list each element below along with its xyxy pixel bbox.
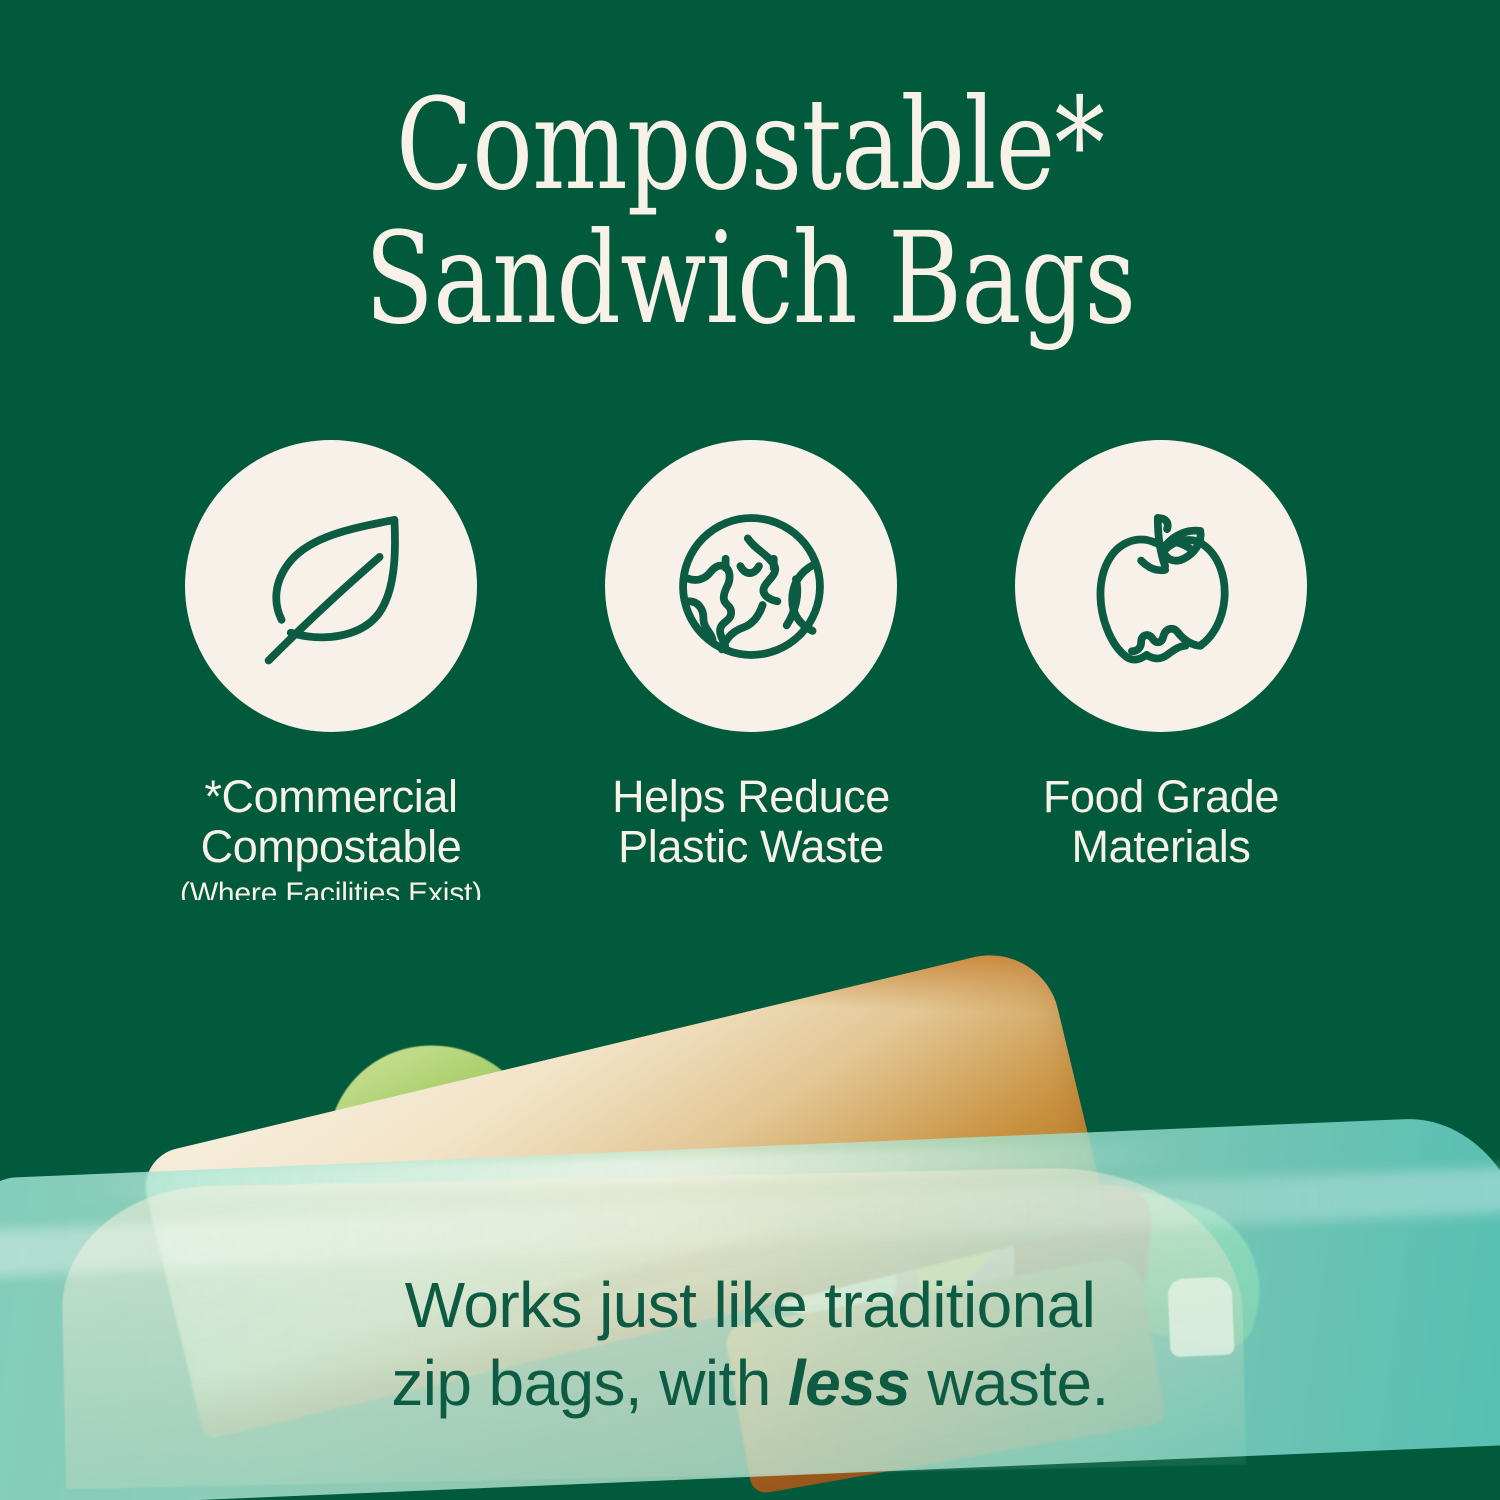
feature-benefits-row: *Commercial Compostable (Where Facilitie… (0, 440, 1500, 911)
headline-line-1: Compostable* (150, 78, 1350, 212)
feature-caption-1-line1: *Commercial (204, 771, 457, 822)
product-feature-graphic: Compostable* Sandwich Bags *Commercial C… (0, 0, 1500, 1500)
feature-caption-1: *Commercial Compostable (Where Facilitie… (180, 772, 482, 911)
feature-caption-1-line2: Compostable (201, 821, 462, 872)
bitten-apple-icon (1069, 494, 1254, 679)
leaf-icon-badge (185, 440, 477, 732)
bitten-apple-icon-badge (1015, 440, 1307, 732)
leaf-icon (239, 494, 424, 679)
feature-caption-2-line2: Plastic Waste (618, 821, 884, 872)
tagline-line-2-post: waste. (910, 1347, 1109, 1419)
tagline-line-2-pre: zip bags, with (391, 1347, 788, 1419)
feature-commercial-compostable: *Commercial Compostable (Where Facilitie… (121, 440, 541, 911)
tagline-line-2: zip bags, with less waste. (0, 1344, 1500, 1422)
smiling-earth-icon-badge (605, 440, 897, 732)
feature-caption-3-line2: Materials (1072, 821, 1251, 872)
page-title: Compostable* Sandwich Bags (150, 78, 1350, 345)
tagline: Works just like traditional zip bags, wi… (0, 1266, 1500, 1422)
tagline-line-1: Works just like traditional (0, 1266, 1500, 1344)
feature-food-grade-materials: Food Grade Materials (951, 440, 1371, 873)
feature-caption-2: Helps Reduce Plastic Waste (612, 772, 890, 873)
headline-line-2: Sandwich Bags (150, 212, 1350, 346)
feature-caption-3: Food Grade Materials (1043, 772, 1279, 873)
smiling-earth-icon (659, 494, 844, 679)
feature-caption-2-line1: Helps Reduce (612, 771, 890, 822)
tagline-emphasis: less (788, 1347, 910, 1419)
feature-reduce-plastic-waste: Helps Reduce Plastic Waste (541, 440, 961, 873)
feature-caption-3-line1: Food Grade (1043, 771, 1279, 822)
